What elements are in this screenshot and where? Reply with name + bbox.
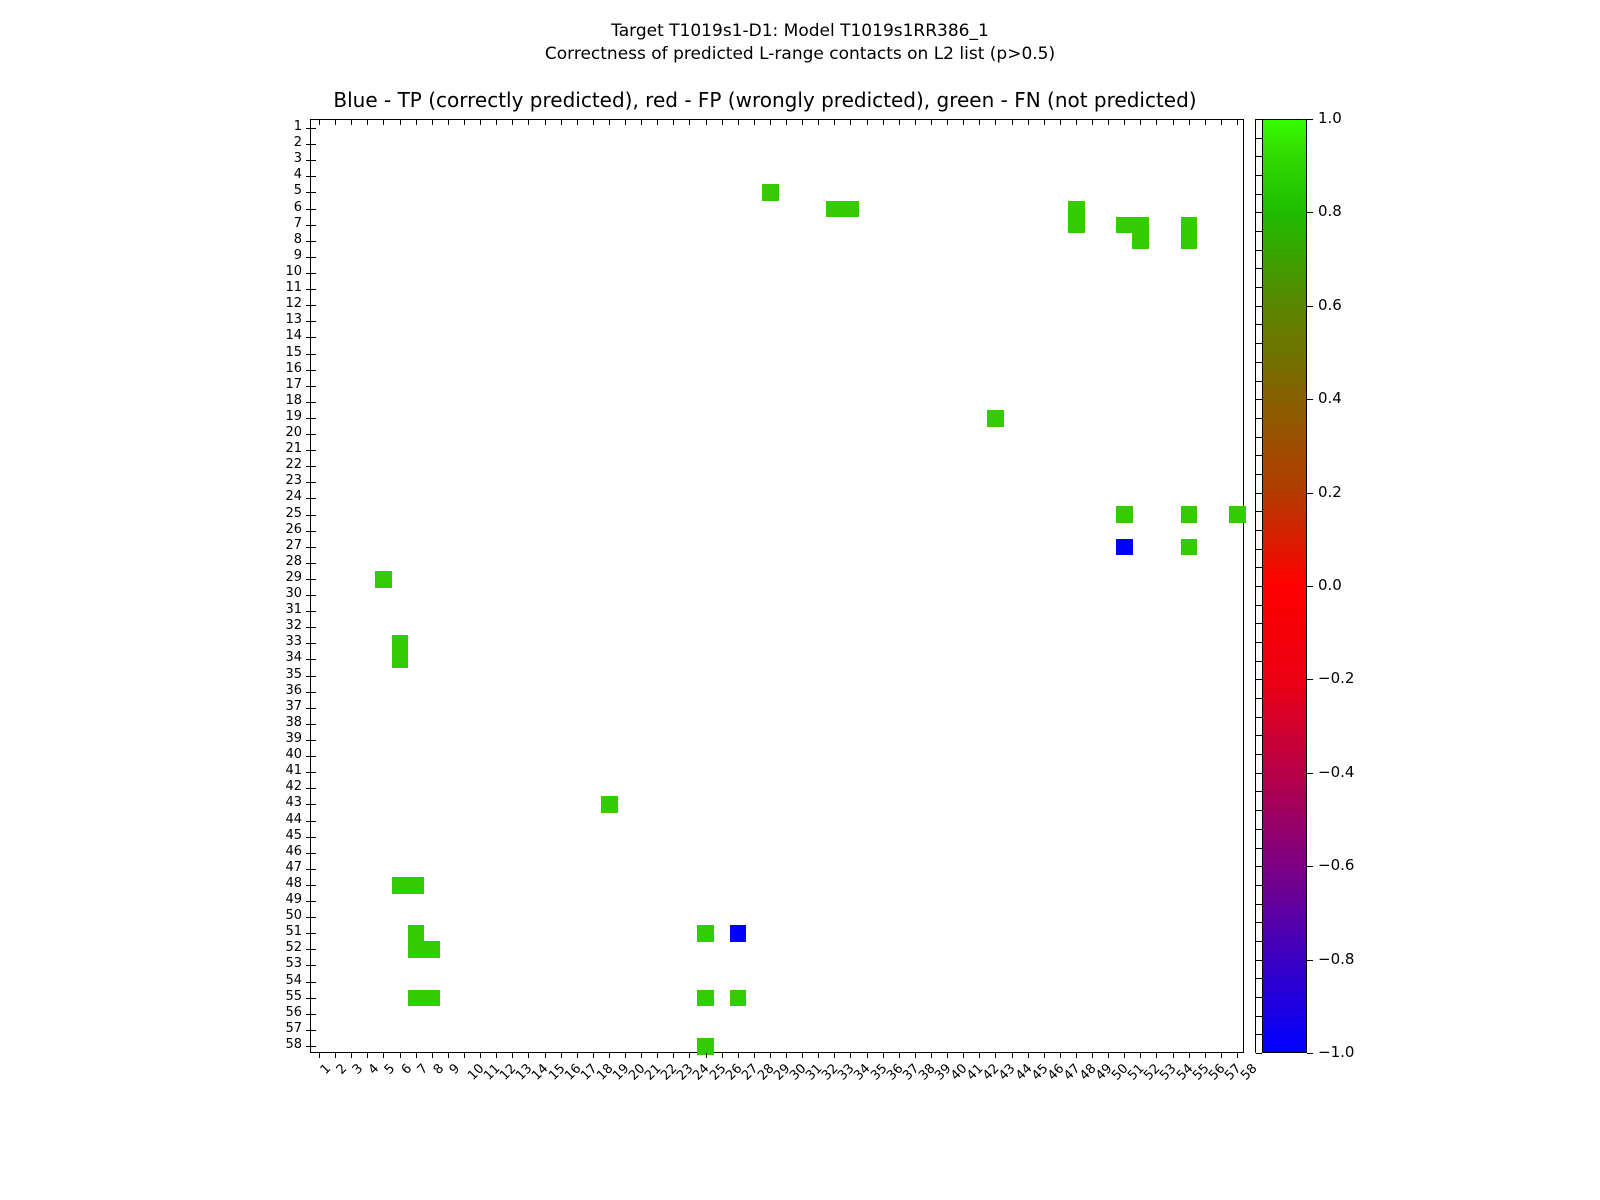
figure-title-line2: Correctness of predicted L-range contact…: [0, 43, 1600, 66]
y-axis-tick: [311, 740, 316, 741]
y-axis-tick: [311, 498, 316, 499]
contact-cell: [392, 635, 409, 652]
y-axis-tick-outer: [306, 949, 311, 950]
x-axis-tick: [1124, 1053, 1125, 1058]
y-axis-tick-outer: [306, 643, 311, 644]
colorbar-minor-tick: [1256, 829, 1262, 830]
colorbar-minor-tick: [1256, 848, 1262, 849]
y-axis-tick-outer: [306, 321, 311, 322]
y-axis-tick: [311, 885, 316, 886]
contact-cell: [1068, 201, 1085, 218]
x-axis-tick-top: [641, 120, 642, 125]
x-axis-tick: [1012, 1053, 1013, 1058]
y-axis-label: 39: [262, 732, 302, 745]
x-axis-label: 27: [740, 1062, 761, 1083]
x-axis-label: 3: [351, 1062, 366, 1077]
x-axis-tick-top: [609, 120, 610, 125]
contact-cell: [392, 877, 409, 894]
y-axis-tick: [311, 1046, 316, 1047]
y-axis-label: 2: [262, 136, 302, 149]
colorbar-minor-tick: [1256, 941, 1262, 942]
contact-cell: [601, 796, 618, 813]
y-axis-label: 41: [262, 764, 302, 777]
x-axis-label: 45: [1029, 1062, 1050, 1083]
contact-cell: [987, 410, 1004, 427]
contact-cell: [1181, 506, 1198, 523]
y-axis-tick: [311, 321, 316, 322]
x-axis-tick-top: [706, 120, 707, 125]
x-axis-label: 19: [611, 1062, 632, 1083]
x-axis-tick-top: [738, 120, 739, 125]
x-axis-label: 31: [804, 1062, 825, 1083]
contact-cell: [762, 184, 779, 201]
x-axis-tick-top: [1060, 120, 1061, 125]
x-axis-tick-top: [480, 120, 481, 125]
x-axis-tick-top: [545, 120, 546, 125]
y-axis-tick: [311, 289, 316, 290]
y-axis-tick: [311, 225, 316, 226]
contact-map-plot-area[interactable]: [310, 119, 1244, 1053]
x-axis-label: 26: [723, 1062, 744, 1083]
colorbar-tick: [1307, 306, 1313, 307]
x-axis-tick: [963, 1053, 964, 1058]
colorbar-tick: [1307, 586, 1313, 587]
y-axis-tick-outer: [306, 515, 311, 516]
colorbar-minor-tick: [1256, 343, 1262, 344]
x-axis-tick: [802, 1053, 803, 1058]
x-axis-tick-top: [867, 120, 868, 125]
x-axis-tick-top: [915, 120, 916, 125]
y-axis-tick-outer: [306, 804, 311, 805]
x-axis-tick-top: [400, 120, 401, 125]
contact-cell: [408, 990, 425, 1007]
y-axis-label: 5: [262, 184, 302, 197]
colorbar-minor-tick: [1256, 287, 1262, 288]
x-axis-tick-top: [561, 120, 562, 125]
colorbar-minor-tick: [1256, 922, 1262, 923]
colorbar-minor-tick: [1256, 567, 1262, 568]
y-axis-tick: [311, 241, 316, 242]
x-axis-tick: [593, 1053, 594, 1058]
x-axis-tick-top: [899, 120, 900, 125]
contact-cell: [1116, 539, 1133, 556]
y-axis-tick-outer: [306, 676, 311, 677]
x-axis-tick-top: [496, 120, 497, 125]
y-axis-tick: [311, 595, 316, 596]
colorbar-minor-tick: [1256, 399, 1262, 400]
y-axis-label: 30: [262, 587, 302, 600]
x-axis-label: 53: [1158, 1062, 1179, 1083]
contact-cell: [842, 201, 859, 218]
x-axis-tick: [1237, 1053, 1238, 1058]
contact-cell: [1181, 539, 1198, 556]
colorbar-tick-label: −0.4: [1318, 765, 1354, 780]
y-axis-tick-outer: [306, 1046, 311, 1047]
x-axis-tick-top: [1076, 120, 1077, 125]
colorbar-minor-tick: [1256, 773, 1262, 774]
x-axis-label: 20: [627, 1062, 648, 1083]
y-axis-tick-outer: [306, 386, 311, 387]
y-axis-label: 24: [262, 490, 302, 503]
x-axis-label: 1: [318, 1062, 333, 1077]
colorbar-tick-label: 1.0: [1318, 111, 1342, 126]
y-axis-tick: [311, 643, 316, 644]
x-axis-tick: [1108, 1053, 1109, 1058]
y-axis-label: 35: [262, 668, 302, 681]
x-axis-tick-top: [464, 120, 465, 125]
y-axis-tick-outer: [306, 192, 311, 193]
x-axis-tick: [979, 1053, 980, 1058]
x-axis-tick: [995, 1053, 996, 1058]
colorbar-minor-tick: [1256, 623, 1262, 624]
y-axis-label: 6: [262, 201, 302, 214]
colorbar-minor-tick: [1256, 866, 1262, 867]
contact-cell: [1181, 233, 1198, 250]
y-axis-tick-outer: [306, 885, 311, 886]
x-axis-tick: [641, 1053, 642, 1058]
y-axis-tick: [311, 192, 316, 193]
x-axis-tick-top: [1012, 120, 1013, 125]
x-axis-label: 33: [836, 1062, 857, 1083]
y-axis-label: 21: [262, 442, 302, 455]
contact-cells-layer: [311, 120, 1243, 1052]
x-axis-tick: [1140, 1053, 1141, 1058]
colorbar-minor-tick: [1256, 493, 1262, 494]
x-axis-tick: [625, 1053, 626, 1058]
y-axis-tick: [311, 579, 316, 580]
x-axis-tick: [400, 1053, 401, 1058]
y-axis-tick-outer: [306, 144, 311, 145]
x-axis-tick-top: [931, 120, 932, 125]
colorbar-minor-tick: [1256, 268, 1262, 269]
x-axis-tick: [1173, 1053, 1174, 1058]
y-axis-label: 10: [262, 265, 302, 278]
y-axis-tick-outer: [306, 659, 311, 660]
contact-cell: [408, 925, 425, 942]
y-axis-tick-outer: [306, 1030, 311, 1031]
x-axis-label: 51: [1126, 1062, 1147, 1083]
colorbar-tick-label: 0.4: [1318, 391, 1342, 406]
x-axis-label: 7: [415, 1062, 430, 1077]
x-axis-tick: [561, 1053, 562, 1058]
y-axis-tick: [311, 788, 316, 789]
x-axis-tick: [673, 1053, 674, 1058]
colorbar-tick-label: 0.8: [1318, 204, 1342, 219]
x-axis-tick-top: [1124, 120, 1125, 125]
x-axis-tick: [335, 1053, 336, 1058]
y-axis-tick-outer: [306, 853, 311, 854]
colorbar-minor-tick: [1256, 586, 1262, 587]
x-axis-label: 32: [820, 1062, 841, 1083]
x-axis-tick: [706, 1053, 707, 1058]
x-axis-tick-top: [1028, 120, 1029, 125]
y-axis-label: 22: [262, 458, 302, 471]
y-axis-tick: [311, 692, 316, 693]
x-axis-tick-top: [432, 120, 433, 125]
contact-cell: [392, 651, 409, 668]
x-axis-label: 4: [367, 1062, 382, 1077]
x-axis-label: 17: [579, 1062, 600, 1083]
x-axis-tick-top: [802, 120, 803, 125]
colorbar-minor-tick: [1256, 530, 1262, 531]
y-axis-tick: [311, 708, 316, 709]
contact-cell: [1116, 506, 1133, 523]
y-axis-tick-outer: [306, 869, 311, 870]
y-axis-tick: [311, 337, 316, 338]
x-axis-tick: [770, 1053, 771, 1058]
colorbar-tick-label: −0.6: [1318, 858, 1354, 873]
y-axis-tick-outer: [306, 337, 311, 338]
y-axis-tick: [311, 869, 316, 870]
y-axis-label: 46: [262, 845, 302, 858]
colorbar-tick: [1307, 679, 1313, 680]
x-axis-label: 13: [514, 1062, 535, 1083]
x-axis-label: 58: [1239, 1062, 1260, 1083]
y-axis-label: 37: [262, 700, 302, 713]
x-axis-label: 54: [1174, 1062, 1195, 1083]
x-axis-tick: [367, 1053, 368, 1058]
y-axis-tick: [311, 1014, 316, 1015]
y-axis-tick-outer: [306, 305, 311, 306]
x-axis-tick-top: [367, 120, 368, 125]
colorbar-minor-tick: [1256, 156, 1262, 157]
colorbar-minor-tick: [1256, 791, 1262, 792]
colorbar-tick: [1307, 960, 1313, 961]
y-axis-label: 28: [262, 555, 302, 568]
figure-legend-caption: Blue - TP (correctly predicted), red - F…: [0, 88, 1530, 112]
y-axis-tick: [311, 160, 316, 161]
x-axis-label: 52: [1142, 1062, 1163, 1083]
y-axis-tick: [311, 949, 316, 950]
colorbar-minor-tick: [1256, 418, 1262, 419]
colorbar-minor-tick: [1256, 231, 1262, 232]
x-axis-label: 35: [868, 1062, 889, 1083]
colorbar-tick: [1307, 866, 1313, 867]
x-axis-label: 5: [383, 1062, 398, 1077]
x-axis-label: 16: [562, 1062, 583, 1083]
x-axis-label: 34: [852, 1062, 873, 1083]
x-axis-tick: [689, 1053, 690, 1058]
x-axis-tick: [657, 1053, 658, 1058]
x-axis-label: 49: [1094, 1062, 1115, 1083]
colorbar-minor-tick: [1256, 605, 1262, 606]
colorbar-tick-label: 0.6: [1318, 298, 1342, 313]
y-axis-label: 49: [262, 893, 302, 906]
x-axis-tick-top: [512, 120, 513, 125]
x-axis-label: 57: [1223, 1062, 1244, 1083]
x-axis-tick-top: [883, 120, 884, 125]
y-axis-tick-outer: [306, 370, 311, 371]
colorbar-minor-tick: [1256, 1034, 1262, 1035]
y-axis-label: 47: [262, 861, 302, 874]
colorbar-tick-label: −0.8: [1318, 952, 1354, 967]
colorbar-minor-tick: [1256, 138, 1262, 139]
x-axis-tick: [867, 1053, 868, 1058]
y-axis-tick: [311, 402, 316, 403]
colorbar-minor-tick: [1256, 306, 1262, 307]
colorbar-minor-tick: [1256, 119, 1262, 120]
x-axis-label: 42: [981, 1062, 1002, 1083]
colorbar-minor-tick: [1256, 679, 1262, 680]
x-axis-label: 38: [917, 1062, 938, 1083]
x-axis-tick-top: [1221, 120, 1222, 125]
contact-cell: [1132, 217, 1149, 234]
x-axis-tick: [1028, 1053, 1029, 1058]
y-axis-tick-outer: [306, 821, 311, 822]
y-axis-tick-outer: [306, 837, 311, 838]
y-axis-tick: [311, 144, 316, 145]
y-axis-label: 53: [262, 957, 302, 970]
y-axis-label: 1: [262, 120, 302, 133]
colorbar-minor-tick: [1256, 212, 1262, 213]
contact-cell: [1181, 217, 1198, 234]
y-axis-tick-outer: [306, 289, 311, 290]
y-axis-tick-outer: [306, 901, 311, 902]
y-axis-tick: [311, 354, 316, 355]
y-axis-tick-outer: [306, 708, 311, 709]
x-axis-label: 43: [997, 1062, 1018, 1083]
y-axis-label: 9: [262, 249, 302, 262]
y-axis-tick-outer: [306, 772, 311, 773]
x-axis-label: 37: [901, 1062, 922, 1083]
contact-cell: [408, 941, 425, 958]
y-axis-label: 33: [262, 635, 302, 648]
colorbar-minor-tick: [1256, 698, 1262, 699]
x-axis-tick-top: [577, 120, 578, 125]
colorbar-minor-tick: [1256, 642, 1262, 643]
contact-cell: [408, 877, 425, 894]
colorbar-minor-tick: [1256, 362, 1262, 363]
x-axis-tick: [722, 1053, 723, 1058]
colorbar-minor-tick: [1256, 754, 1262, 755]
colorbar-tick: [1307, 1053, 1313, 1054]
y-axis-label: 7: [262, 217, 302, 230]
x-axis-tick: [383, 1053, 384, 1058]
y-axis-tick-outer: [306, 756, 311, 757]
x-axis-label: 29: [772, 1062, 793, 1083]
x-axis-tick-top: [818, 120, 819, 125]
colorbar-tick-label: 0.0: [1318, 578, 1342, 593]
x-axis-tick-top: [1092, 120, 1093, 125]
colorbar[interactable]: [1262, 119, 1307, 1053]
x-axis-tick: [448, 1053, 449, 1058]
contact-cell: [424, 941, 441, 958]
x-axis-tick: [432, 1053, 433, 1058]
y-axis-tick-outer: [306, 933, 311, 934]
x-axis-label: 6: [399, 1062, 414, 1077]
y-axis-label: 58: [262, 1038, 302, 1051]
x-axis-tick: [464, 1053, 465, 1058]
x-axis-tick-top: [319, 120, 320, 125]
y-axis-tick-outer: [306, 579, 311, 580]
y-axis-tick: [311, 128, 316, 129]
contact-cell: [697, 990, 714, 1007]
y-axis-tick: [311, 386, 316, 387]
y-axis-tick: [311, 370, 316, 371]
x-axis-label: 40: [949, 1062, 970, 1083]
y-axis-label: 36: [262, 684, 302, 697]
y-axis-label: 19: [262, 410, 302, 423]
x-axis-tick-top: [416, 120, 417, 125]
x-axis-tick-top: [657, 120, 658, 125]
x-axis-tick-top: [673, 120, 674, 125]
x-axis-label: 50: [1110, 1062, 1131, 1083]
y-axis-tick-outer: [306, 241, 311, 242]
y-axis-tick-outer: [306, 434, 311, 435]
y-axis-label: 13: [262, 313, 302, 326]
colorbar-minor-tick: [1256, 455, 1262, 456]
y-axis-tick: [311, 837, 316, 838]
x-axis-tick-top: [1173, 120, 1174, 125]
x-axis-label: 15: [546, 1062, 567, 1083]
y-axis-tick: [311, 917, 316, 918]
x-axis-tick: [1092, 1053, 1093, 1058]
x-axis-label: 41: [965, 1062, 986, 1083]
colorbar-tick: [1307, 212, 1313, 213]
y-axis-tick-outer: [306, 1014, 311, 1015]
y-axis-tick-outer: [306, 128, 311, 129]
x-axis-tick: [1189, 1053, 1190, 1058]
colorbar-minor-tick: [1256, 904, 1262, 905]
x-axis-tick-top: [995, 120, 996, 125]
x-axis-tick-top: [1140, 120, 1141, 125]
x-axis-tick-top: [770, 120, 771, 125]
x-axis-tick: [1205, 1053, 1206, 1058]
x-axis-tick-top: [834, 120, 835, 125]
y-axis-label: 38: [262, 716, 302, 729]
y-axis-label: 23: [262, 474, 302, 487]
x-axis-tick-top: [1108, 120, 1109, 125]
y-axis-tick-outer: [306, 482, 311, 483]
y-axis-tick-outer: [306, 354, 311, 355]
y-axis-tick: [311, 176, 316, 177]
x-axis-label: 55: [1190, 1062, 1211, 1083]
y-axis-label: 17: [262, 378, 302, 391]
y-axis-tick: [311, 627, 316, 628]
y-axis-tick: [311, 933, 316, 934]
colorbar-tick-label: −0.2: [1318, 671, 1354, 686]
x-axis-label: 56: [1207, 1062, 1228, 1083]
colorbar-tick-label: 0.2: [1318, 485, 1342, 500]
y-axis-tick: [311, 724, 316, 725]
y-axis-tick-outer: [306, 917, 311, 918]
y-axis-tick: [311, 434, 316, 435]
colorbar-minor-tick: [1256, 437, 1262, 438]
x-axis-tick-top: [963, 120, 964, 125]
colorbar-minor-tick: [1256, 511, 1262, 512]
x-axis-label: 28: [756, 1062, 777, 1083]
y-axis-label: 57: [262, 1022, 302, 1035]
colorbar-minor-tick: [1256, 960, 1262, 961]
x-axis-tick-top: [1237, 120, 1238, 125]
x-axis-tick-top: [722, 120, 723, 125]
colorbar-minor-tick: [1256, 381, 1262, 382]
y-axis-label: 44: [262, 813, 302, 826]
contact-cell: [1068, 217, 1085, 234]
colorbar-tick: [1307, 399, 1313, 400]
x-axis-tick: [496, 1053, 497, 1058]
x-axis-label: 24: [691, 1062, 712, 1083]
y-axis-tick: [311, 901, 316, 902]
y-axis-tick: [311, 804, 316, 805]
colorbar-minor-tick: [1256, 1016, 1262, 1017]
y-axis-tick-outer: [306, 273, 311, 274]
y-axis-label: 45: [262, 829, 302, 842]
x-axis-tick-top: [593, 120, 594, 125]
contact-cell: [375, 571, 392, 588]
y-axis-tick: [311, 273, 316, 274]
x-axis-tick: [1221, 1053, 1222, 1058]
